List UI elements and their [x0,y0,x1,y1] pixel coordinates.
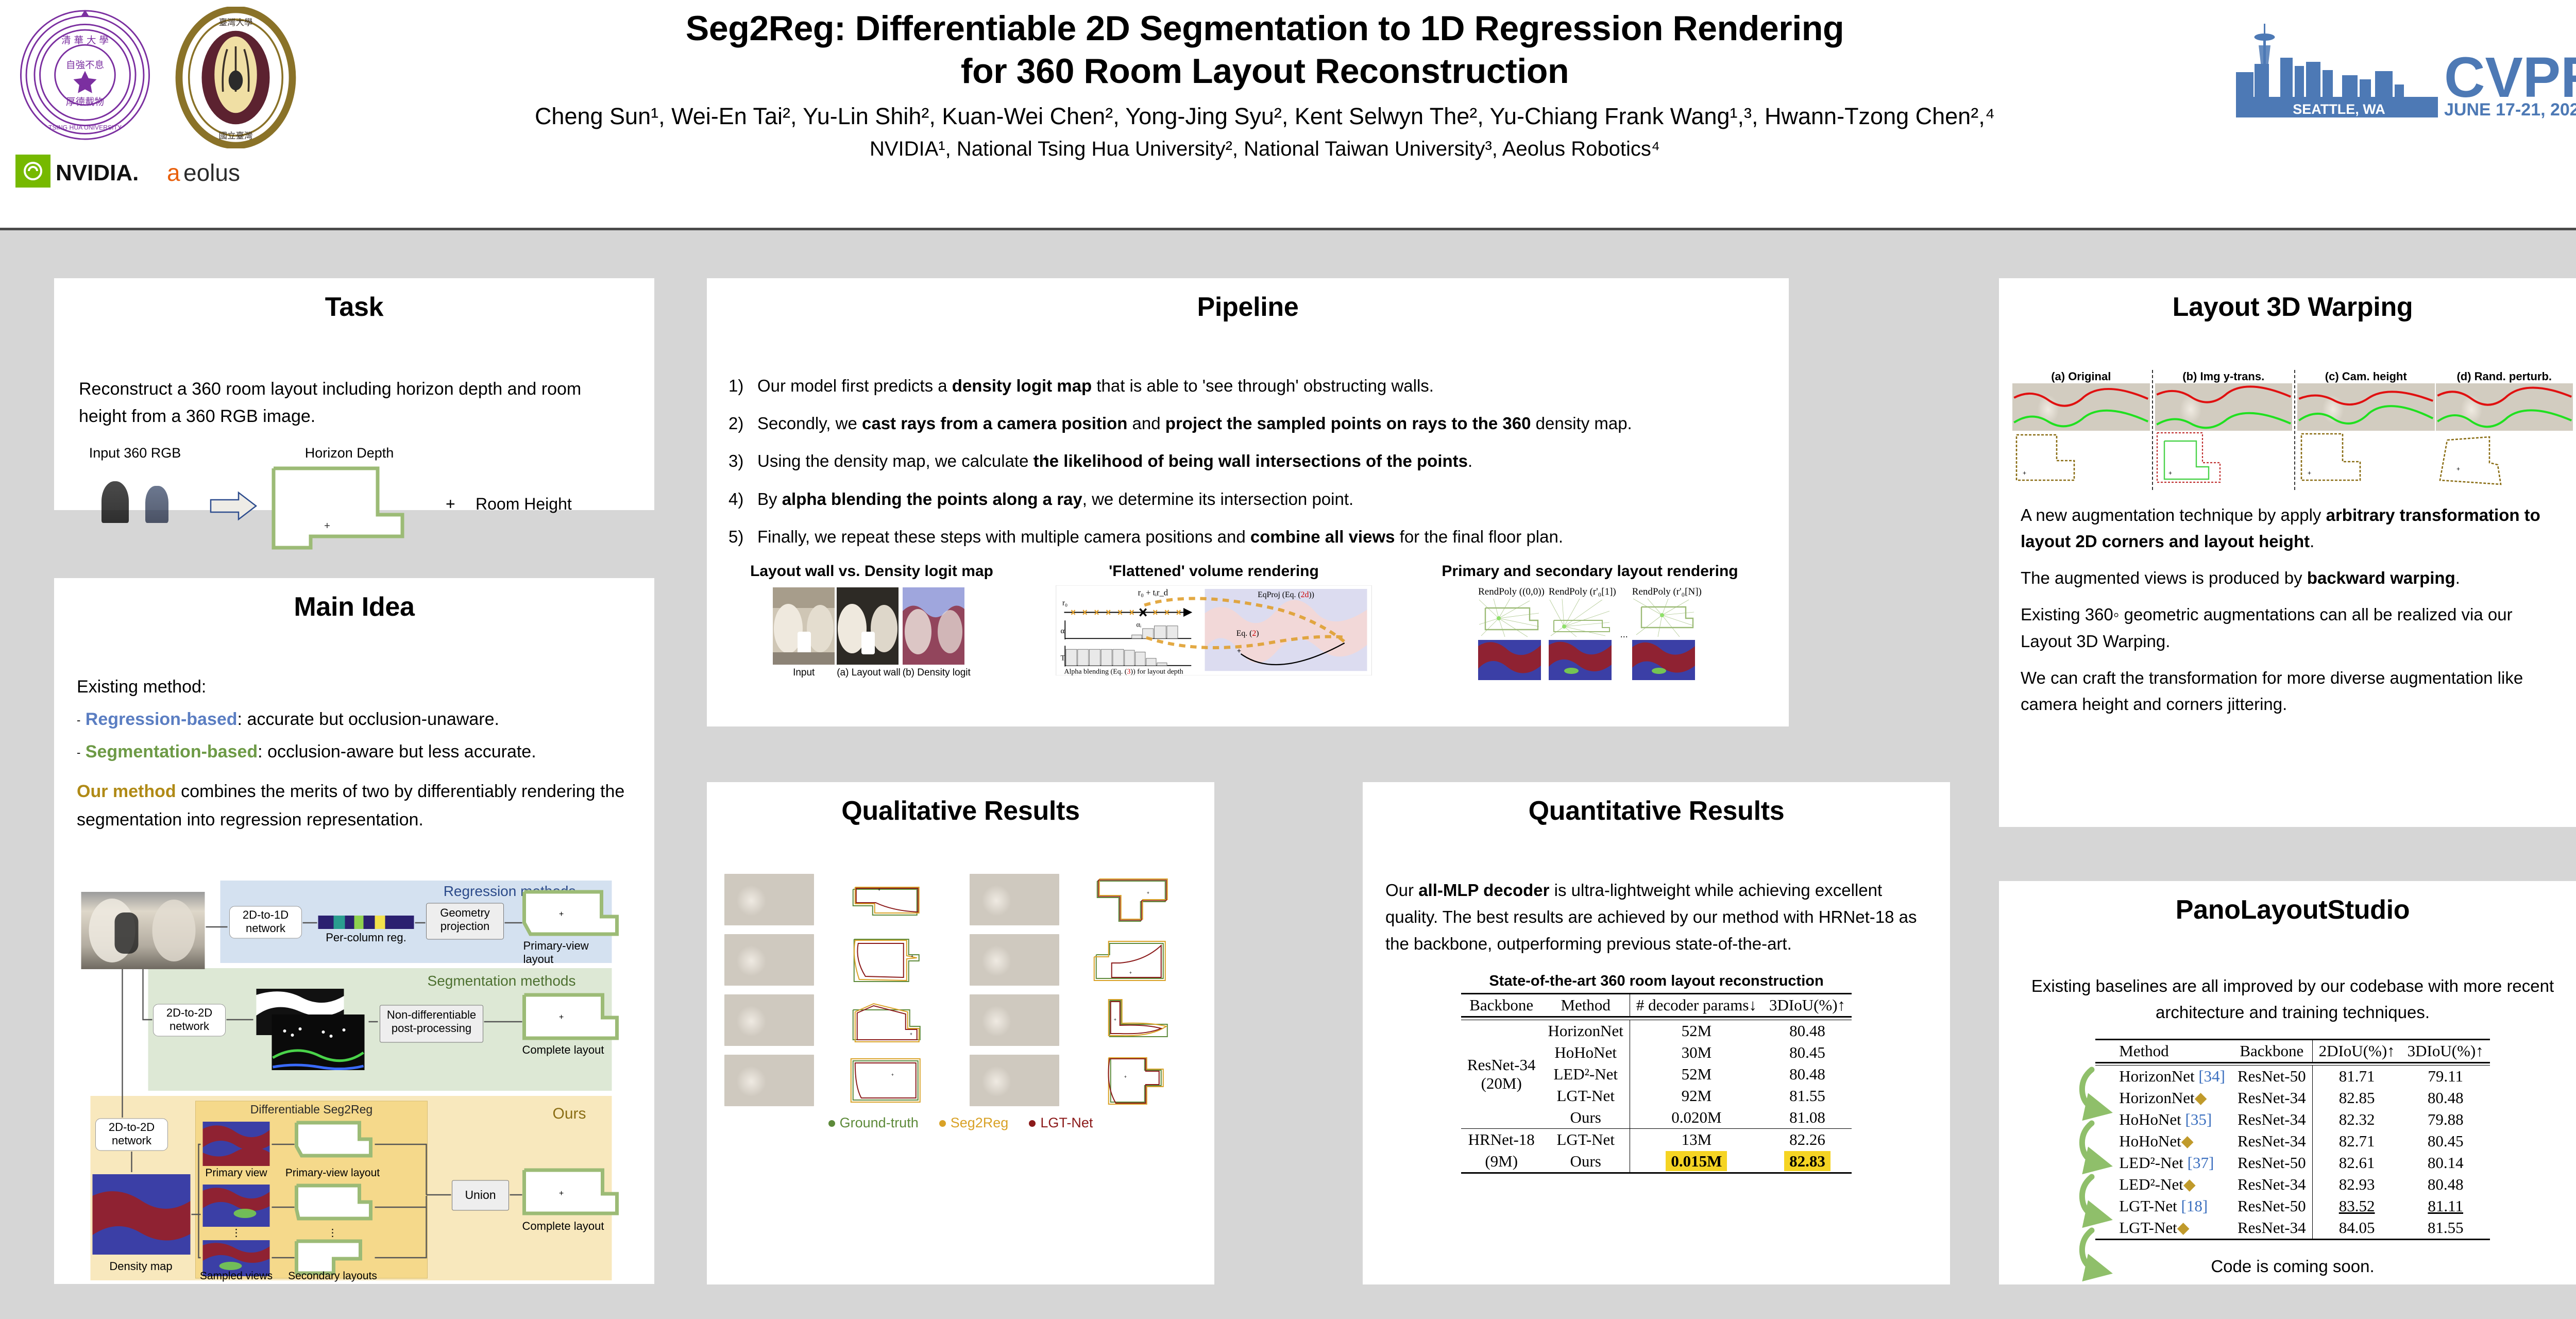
legend-dot-icon [1029,1120,1036,1127]
backbone-name: ResNet-50 [2231,1066,2312,1088]
qualitative-item: + [970,934,1197,986]
backbone-name: ResNet-50 [2231,1195,2312,1217]
legend-dot-icon [939,1120,946,1127]
quant-text-bold: all-MLP decoder [1418,881,1549,900]
qualitative-floorplan: + [818,874,952,925]
national-taiwan-university-seal-icon: 臺灣大學國立臺灣 [165,7,307,148]
rendpoly-render-3 [1632,598,1695,680]
step-number: 2) [728,412,757,435]
decoder-params: 30M [1630,1042,1763,1063]
warp-floorplan-perturb: + [2436,431,2503,487]
decoder-params: 92M [1630,1085,1763,1107]
pipeline-title: Pipeline [707,278,1789,323]
method-name: LGT-Net [2119,1219,2177,1237]
rendpoly-render-1 [1478,598,1541,680]
step-text-bold: density logit map [952,376,1092,395]
svg-text:⋮: ⋮ [328,1227,338,1239]
panel-layout-3d-warping: Layout 3D Warping (a) Original + [1999,278,2576,827]
backbone-name: ResNet-34 [2231,1174,2312,1195]
warping-paragraph-2: The augmented views is produced by backw… [2021,565,2565,591]
table-row: LGT-Net [18] ResNet-50 83.52 81.11 [2095,1195,2490,1217]
segmentation-based-rest: : occlusion-aware but less accurate. [258,742,536,762]
iou-2d: 82.85 [2312,1087,2401,1109]
table-row: (9M) Ours 0.015M 82.83 [1461,1151,1852,1173]
method-name: LGT-Net [1542,1085,1630,1107]
col-method: Method [2095,1040,2231,1063]
backbone-name: ResNet-50 [2231,1152,2312,1174]
method-name: HorizonNet [2119,1089,2194,1107]
differentiable-seg2reg-header: Differentiable Seg2Reg [250,1103,372,1116]
table-row: HRNet-18 LGT-Net 13M 82.26 [1461,1129,1852,1151]
bullet-dash-1: - [77,714,80,726]
input-panorama-image [773,587,835,665]
arrow-right-icon [209,489,258,522]
backbone-name: ResNet-34 [1467,1056,1536,1074]
rendpoly-label-3: RendPoly (r'₀[N]) [1632,586,1702,598]
svg-text:Complete layout: Complete layout [522,1043,604,1056]
nvidia-logo-icon: NVIDIA. [15,154,144,190]
transmittance-axis-label: T [1061,654,1065,662]
task-input-panorama-image [81,465,185,537]
poster-header: 清 華 大 學 自強不息 厚德載物 TSING HUA UNIVERSITY [0,0,2576,230]
svg-text:+: + [891,1072,894,1077]
poster-root: 清 華 大 學 自強不息 厚德載物 TSING HUA UNIVERSITY [0,0,2576,1319]
pano-table-header-row: Method Backbone 2DIoU(%)↑ 3DIoU(%)↑ [2095,1040,2490,1063]
svg-text:Complete layout: Complete layout [522,1220,604,1232]
affiliation-list: NVIDIA¹, National Tsing Hua University²,… [330,136,2200,162]
regression-based-rest: : accurate but occlusion-unaware. [238,709,499,729]
svg-text:+: + [2308,469,2311,477]
svg-text:Union: Union [465,1188,496,1202]
method-reference: [35] [2185,1110,2212,1128]
qualitative-title: Qualitative Results [707,782,1214,826]
method-name: HorizonNet [1542,1020,1630,1042]
flattened-volume-rendering-diagram: r₀ + tᵢr_d r₀ α [1033,585,1394,675]
density-logit-image [903,587,964,665]
main-idea-architecture-figure: Regression methods Segmentation methods … [65,840,643,1283]
svg-text:Secondary layouts: Secondary layouts [288,1270,377,1282]
figure-1-caption: Layout wall vs. Density logit map [722,563,1021,580]
svg-text:+: + [2456,465,2460,472]
legend-lgt-net: LGT-Net [1029,1115,1093,1131]
svg-text:Primary-view: Primary-view [523,939,589,952]
panel-qualitative-results: Qualitative Results + [707,782,1214,1284]
qualitative-item: + [724,1055,952,1106]
iou-3d: 80.48 [2401,1087,2490,1109]
step-text-pre: Our model first predicts a [757,376,952,395]
step-number: 1) [728,374,757,398]
quantitative-title: Quantitative Results [1363,782,1950,826]
method-name: LGT-Net [2119,1197,2177,1215]
backbone-name: ResNet-34 [2231,1087,2312,1109]
warp-cell-perturb: (d) Rand. perturb. + [2436,370,2573,490]
warp-cell-ytrans: (b) Img y-trans. + [2155,370,2293,490]
step-text-post: that is able to 'see through' obstructin… [1092,376,1434,395]
svg-text:network: network [246,922,286,935]
method-name: LED²-Net [2119,1154,2183,1172]
iou-3d: 80.48 [1763,1063,1852,1085]
qualitative-floorplan: + [1063,934,1197,986]
figure-1-sub-caption-3: (b) Density logit [903,667,971,679]
pipeline-figures: Layout wall vs. Density logit map Input [722,563,1773,689]
segmentation-methods-header: Segmentation methods [428,973,576,989]
qualitative-legend: Ground-truth Seg2Reg LGT-Net [724,1115,1197,1131]
quant-table-header-row: Backbone Method # decoder params↓ 3DIoU(… [1461,994,1852,1017]
svg-text:2D-to-2D: 2D-to-2D [166,1006,212,1019]
svg-text:+: + [2168,469,2172,477]
svg-text:+: + [1237,646,1241,654]
alpha-axis-label: α [1061,627,1065,635]
svg-text:Geometry: Geometry [440,906,490,919]
iou-3d: 79.88 [2401,1109,2490,1130]
iou-3d: 81.08 [1763,1107,1852,1129]
backbone-name: HRNet-18 [1461,1129,1542,1151]
pipeline-step-5: 5) Finally, we repeat these steps with m… [728,525,1767,549]
svg-text:厚德載物: 厚德載物 [66,97,104,108]
pipeline-step-3: 3) Using the density map, we calculate t… [728,449,1767,473]
svg-text:+: + [324,520,330,532]
iou-2d: 83.52 [2312,1195,2401,1217]
svg-text:+: + [2023,469,2026,477]
panolayoutstudio-description: Existing baselines are all improved by o… [2023,973,2563,1025]
qualitative-grid: + + [724,874,1197,1131]
svg-text:2D-to-2D: 2D-to-2D [109,1121,155,1134]
warp-panorama-camheight [2297,383,2435,431]
decoder-params: 52M [1630,1020,1763,1042]
panel-panolayoutstudio: PanoLayoutStudio Existing baselines are … [1999,881,2576,1284]
col-backbone: Backbone [2231,1040,2312,1063]
warp-floorplan-original: + [2012,431,2079,487]
qualitative-row: + + [724,1055,1197,1106]
warp-caption-c: (c) Cam. height [2297,370,2435,383]
backbone-size: (20M) [1467,1074,1536,1093]
backbone-name: ResNet-34 [2231,1109,2312,1130]
qualitative-panorama-image [970,874,1059,925]
pipeline-figure-layout-rendering: Primary and secondary layout rendering R… [1406,563,1773,689]
method-reference: [37] [2188,1154,2214,1172]
method-name: LED²-Net [1542,1063,1630,1085]
figure-2-caption: 'Flattened' volume rendering [1033,563,1394,580]
qualitative-item: + [970,994,1197,1046]
legend-seg2reg: Seg2Reg [939,1115,1009,1131]
step-text-bold2: project the sampled points on rays to th… [1165,414,1531,433]
svg-text:+: + [559,1189,564,1198]
aeolus-logo-icon: a eolus [165,156,283,188]
cvpr-dates-text: JUNE 17-21, 2024 [2444,100,2576,120]
warp-caption-a: (a) Original [2012,370,2150,383]
iou-2d: 82.32 [2312,1109,2401,1130]
main-idea-bullet-segmentation: - Segmentation-based: occlusion-aware bu… [77,738,632,766]
iou-2d: 82.71 [2312,1130,2401,1152]
step-number: 5) [728,525,757,549]
pipeline-step-2: 2) Secondly, we cast rays from a camera … [728,412,1767,435]
table-row: LED²-Net◆ ResNet-34 82.93 80.48 [2095,1174,2490,1195]
step-text-post: , we determine its intersection point. [1082,489,1353,509]
svg-text:Density map: Density map [109,1260,172,1273]
svg-text:a: a [167,159,180,186]
col-decoder-params: # decoder params↓ [1630,994,1763,1017]
rendpoly-label-1: RendPoly ((0,0)) [1478,586,1545,598]
step-number: 3) [728,449,757,473]
ours-header: Ours [552,1105,586,1122]
decoder-params-highlighted: 0.015M [1666,1151,1727,1171]
warp-floorplan-camheight: + [2297,431,2364,487]
iou-3d-highlighted: 82.83 [1784,1151,1831,1171]
pipeline-figure-flattened-rendering: 'Flattened' volume rendering r₀ + tᵢr_d … [1033,563,1394,689]
warp-panorama-perturb [2436,383,2573,431]
rendpoly-label-2: RendPoly (r'₀[1]) [1549,586,1616,598]
qualitative-floorplan: + [818,934,952,986]
title-block: Seg2Reg: Differentiable 2D Segmentation … [330,7,2200,162]
qualitative-floorplan: + [818,1055,952,1106]
main-idea-title: Main Idea [54,578,654,622]
qualitative-panorama-image [724,994,814,1046]
warping-paragraph-4: We can craft the transformation for more… [2021,665,2565,717]
svg-text:自強不息: 自強不息 [66,60,104,71]
qualitative-panorama-image [970,934,1059,986]
warping-title: Layout 3D Warping [1999,278,2576,323]
eqproj-label: EqProj (Eq. (2d)) [1258,590,1314,599]
method-reference: [34] [2198,1067,2225,1085]
iou-3d: 81.55 [1763,1085,1852,1107]
col-3diou: 3DIoU(%)↑ [2401,1040,2490,1063]
iou-3d: 82.26 [1763,1129,1852,1151]
iou-3d: 80.48 [2401,1174,2490,1195]
table-row: LGT-Net◆ ResNet-34 84.05 81.55 [2095,1217,2490,1240]
svg-text:+: + [910,1031,912,1037]
step-text-bold: combine all views [1250,527,1395,546]
step-text-bold: alpha blending the points along a ray [782,489,1082,509]
table-row: HorizonNet [34] ResNet-50 81.71 79.11 [2095,1066,2490,1088]
main-idea-our-method: Our method combines the merits of two by… [77,777,632,834]
main-idea-bullet-regression: - Regression-based: accurate but occlusi… [77,705,632,734]
main-idea-text: Existing method: - Regression-based: acc… [77,673,632,834]
iou-3d: 80.45 [2401,1130,2490,1152]
rendpoly-render-2 [1549,598,1612,680]
panel-main-idea: Main Idea Existing method: - Regression-… [54,578,654,1284]
svg-text:+: + [559,1013,564,1022]
step-text-bold: cast rays from a camera position [862,414,1127,433]
qualitative-panorama-image [724,934,814,986]
figure-3-caption: Primary and secondary layout rendering [1406,563,1773,580]
regression-based-label: Regression-based [86,709,238,729]
warp-panorama-original [2012,383,2150,431]
quantitative-description: Our all-MLP decoder is ultra-lightweight… [1385,877,1927,957]
svg-text:Primary view: Primary view [205,1167,267,1179]
panel-pipeline: Pipeline 1) Our model first predicts a d… [707,278,1789,726]
iou-3d: 80.48 [1763,1020,1852,1042]
step-text-post: density map. [1531,414,1632,433]
table-row: LED²-Net [37] ResNet-50 82.61 80.14 [2095,1152,2490,1174]
method-name: HoHoNet [2119,1110,2181,1128]
pipeline-step-4: 4) By alpha blending the points along a … [728,487,1767,511]
backbone-name: ResNet-34 [2231,1217,2312,1240]
qualitative-item: + [724,934,952,986]
svg-text:network: network [112,1134,152,1147]
qualitative-panorama-image [724,1055,814,1106]
our-method-label: Our method [77,782,176,801]
pipeline-step-1: 1) Our model first predicts a density lo… [728,374,1767,398]
table-row: HoHoNet [35] ResNet-34 82.32 79.88 [2095,1109,2490,1130]
step-number: 4) [728,487,757,511]
col-method: Method [1542,994,1630,1017]
cvpr-location-text: SEATTLE, WA [2293,102,2385,117]
bullet-dash-2: - [77,746,80,759]
step-text-post: for the final floor plan. [1395,527,1563,546]
task-figure: Input 360 RGB Horizon Depth + + Room Hei… [54,445,654,551]
iou-2d: 82.61 [2312,1152,2401,1174]
iou-3d: 80.14 [2401,1152,2490,1174]
quantitative-table: Backbone Method # decoder params↓ 3DIoU(… [1461,993,1852,1174]
method-name: HorizonNet [2119,1067,2194,1085]
task-output-caption: Horizon Depth [269,445,429,461]
svg-text:國立臺灣: 國立臺灣 [219,131,253,141]
panolayoutstudio-table-wrap: Method Backbone 2DIoU(%)↑ 3DIoU(%)↑ Hori… [1999,1039,2576,1240]
qualitative-panorama-image [970,1055,1059,1106]
svg-text:post-processing: post-processing [392,1022,471,1035]
task-input-caption: Input 360 RGB [81,445,189,461]
rendpoly-cell-2: RendPoly (r'₀[1]) [1549,586,1616,683]
task-room-height-label: Room Height [476,495,572,514]
warp-caption-b: (b) Img y-trans. [2155,370,2293,383]
table-row: HorizonNet◆ ResNet-34 82.85 80.48 [2095,1087,2490,1109]
panolayoutstudio-title: PanoLayoutStudio [1999,881,2576,925]
poster-title-line-2: for 360 Room Layout Reconstruction [330,50,2200,93]
step-text-pre: Using the density map, we calculate [757,451,1033,470]
horizon-depth-floorplan-figure: + [269,464,424,551]
qualitative-panorama-image [970,994,1059,1046]
rendpoly-cell-1: RendPoly ((0,0)) [1478,586,1545,683]
qualitative-item: + [724,994,952,1046]
qualitative-row: + + [724,874,1197,925]
task-title: Task [54,278,654,323]
iou-3d: 80.45 [1763,1042,1852,1063]
method-name: LED²-Net [2119,1175,2183,1193]
eq2-label: Eq. (2) [1236,629,1259,638]
qualitative-row: + + [724,934,1197,986]
qualitative-floorplan: + [818,994,952,1046]
ours-marker-icon: ◆ [2181,1132,2194,1150]
svg-text:+: + [1146,890,1149,895]
pipeline-figure-layout-wall: Layout wall vs. Density logit map Input [722,563,1021,689]
figure-1-sub-caption-1: Input [773,667,835,679]
method-reference: [18] [2181,1197,2208,1215]
panolayoutstudio-table: Method Backbone 2DIoU(%)↑ 3DIoU(%)↑ Hori… [2095,1039,2490,1240]
panel-quantitative-results: Quantitative Results Our all-MLP decoder… [1363,782,1950,1284]
decoder-params: 52M [1630,1063,1763,1085]
header-logos: 清 華 大 學 自強不息 厚德載物 TSING HUA UNIVERSITY [10,4,330,226]
alpha-i-label: αᵢ [1137,621,1142,629]
method-name: Ours [1542,1107,1630,1129]
task-description: Reconstruct a 360 room layout including … [79,376,630,430]
iou-2d: 82.93 [2312,1174,2401,1195]
warp-panorama-ytrans [2155,383,2293,431]
improvement-arrows-icon [2076,1066,2114,1287]
iou-2d: 81.71 [2312,1066,2401,1088]
figure-1-sub-caption-2: (a) Layout wall [837,667,901,679]
warping-description: A new augmentation technique by apply ar… [2021,502,2565,717]
warp-cell-original: (a) Original + [2012,370,2150,490]
task-plus-sign: + [446,495,455,514]
method-name: LGT-Net [1542,1129,1630,1151]
table-row: HoHoNet◆ ResNet-34 82.71 80.45 [2095,1130,2490,1152]
svg-text:Sampled views: Sampled views [200,1270,273,1282]
ours-marker-icon: ◆ [2183,1175,2196,1193]
method-name: HoHoNet [1542,1042,1630,1063]
rendpoly-cell-3: RendPoly (r'₀[N]) [1632,586,1702,683]
qualitative-floorplan: + [1063,994,1197,1046]
step-text-bold: the likelihood of being wall intersectio… [1033,451,1468,470]
svg-text:臺灣大學: 臺灣大學 [219,18,253,27]
svg-text:projection: projection [440,920,489,933]
pipeline-steps-list: 1) Our model first predicts a density lo… [728,374,1767,549]
legend-ground-truth: Ground-truth [828,1115,919,1131]
main-idea-intro: Existing method: [77,673,632,701]
warping-figure: (a) Original + (b) Img y-trans. [2012,370,2573,488]
step-text-pre: Finally, we repeat these steps with mult… [757,527,1250,546]
rendpoly-ellipsis: ... [1620,629,1628,640]
layout-wall-image [837,587,899,665]
svg-text:TSING HUA UNIVERSITY: TSING HUA UNIVERSITY [48,124,122,131]
method-name: Ours [1542,1151,1630,1173]
warp-caption-d: (d) Rand. perturb. [2436,370,2573,383]
svg-text:2D-to-1D: 2D-to-1D [243,908,289,921]
svg-text:Per-column reg.: Per-column reg. [326,931,406,944]
svg-text:Primary-view layout: Primary-view layout [285,1167,380,1179]
method-name: HoHoNet [2119,1132,2181,1150]
qualitative-item: + [724,874,952,925]
svg-text:NVIDIA.: NVIDIA. [56,160,139,185]
svg-text:layout: layout [523,953,554,966]
svg-text:eolus: eolus [183,159,240,186]
svg-text:+: + [1124,1074,1126,1079]
iou-3d: 81.11 [2401,1195,2490,1217]
svg-text:+: + [911,954,913,959]
decoder-params: 13M [1630,1129,1763,1151]
step-text-post: . [1468,451,1472,470]
warping-paragraph-3: Existing 360◦ geometric augmentations ca… [2021,601,2565,654]
col-3diou: 3DIoU(%)↑ [1763,994,1852,1017]
ray-origin-label: r₀ [1062,599,1067,607]
svg-text:清 華 大 學: 清 華 大 學 [61,36,109,46]
segmentation-based-label: Segmentation-based [86,742,258,762]
qualitative-item: + [970,1055,1197,1106]
architecture-diagram-svg: Regression methods Segmentation methods … [65,840,643,1283]
panel-task: Task Reconstruct a 360 room layout inclu… [54,278,654,510]
qualitative-item: + [970,874,1197,925]
qualitative-panorama-image [724,874,814,925]
col-backbone: Backbone [1461,994,1542,1017]
step-text-pre: Secondly, we [757,414,862,433]
quant-table-caption: State-of-the-art 360 room layout reconst… [1363,973,1950,990]
step-text-mid: and [1127,414,1165,433]
svg-text:⋮: ⋮ [231,1227,242,1239]
svg-text:+: + [878,887,880,892]
cvpr-conference-logo-icon: SEATTLE, WA CVPR JUNE 17-21, 2024 [2236,14,2576,120]
alpha-blending-caption: Alpha blending (Eq. (3)) for layout dept… [1064,668,1183,675]
qualitative-row: + + [724,994,1197,1046]
quant-text-pre: Our [1385,881,1418,900]
table-row: ResNet-34 (20M) HorizonNet 52M 80.48 [1461,1020,1852,1042]
tsing-hua-university-seal-icon: 清 華 大 學 自強不息 厚德載物 TSING HUA UNIVERSITY [15,7,155,143]
poster-title-line-1: Seg2Reg: Differentiable 2D Segmentation … [330,7,2200,50]
ray-equation-label: r₀ + tᵢr_d [1138,587,1168,597]
legend-dot-icon [828,1120,835,1127]
backbone-name: ResNet-34 [2231,1130,2312,1152]
iou-3d: 81.55 [2401,1217,2490,1240]
svg-text:+: + [559,910,564,919]
iou-3d: 79.11 [2401,1066,2490,1088]
